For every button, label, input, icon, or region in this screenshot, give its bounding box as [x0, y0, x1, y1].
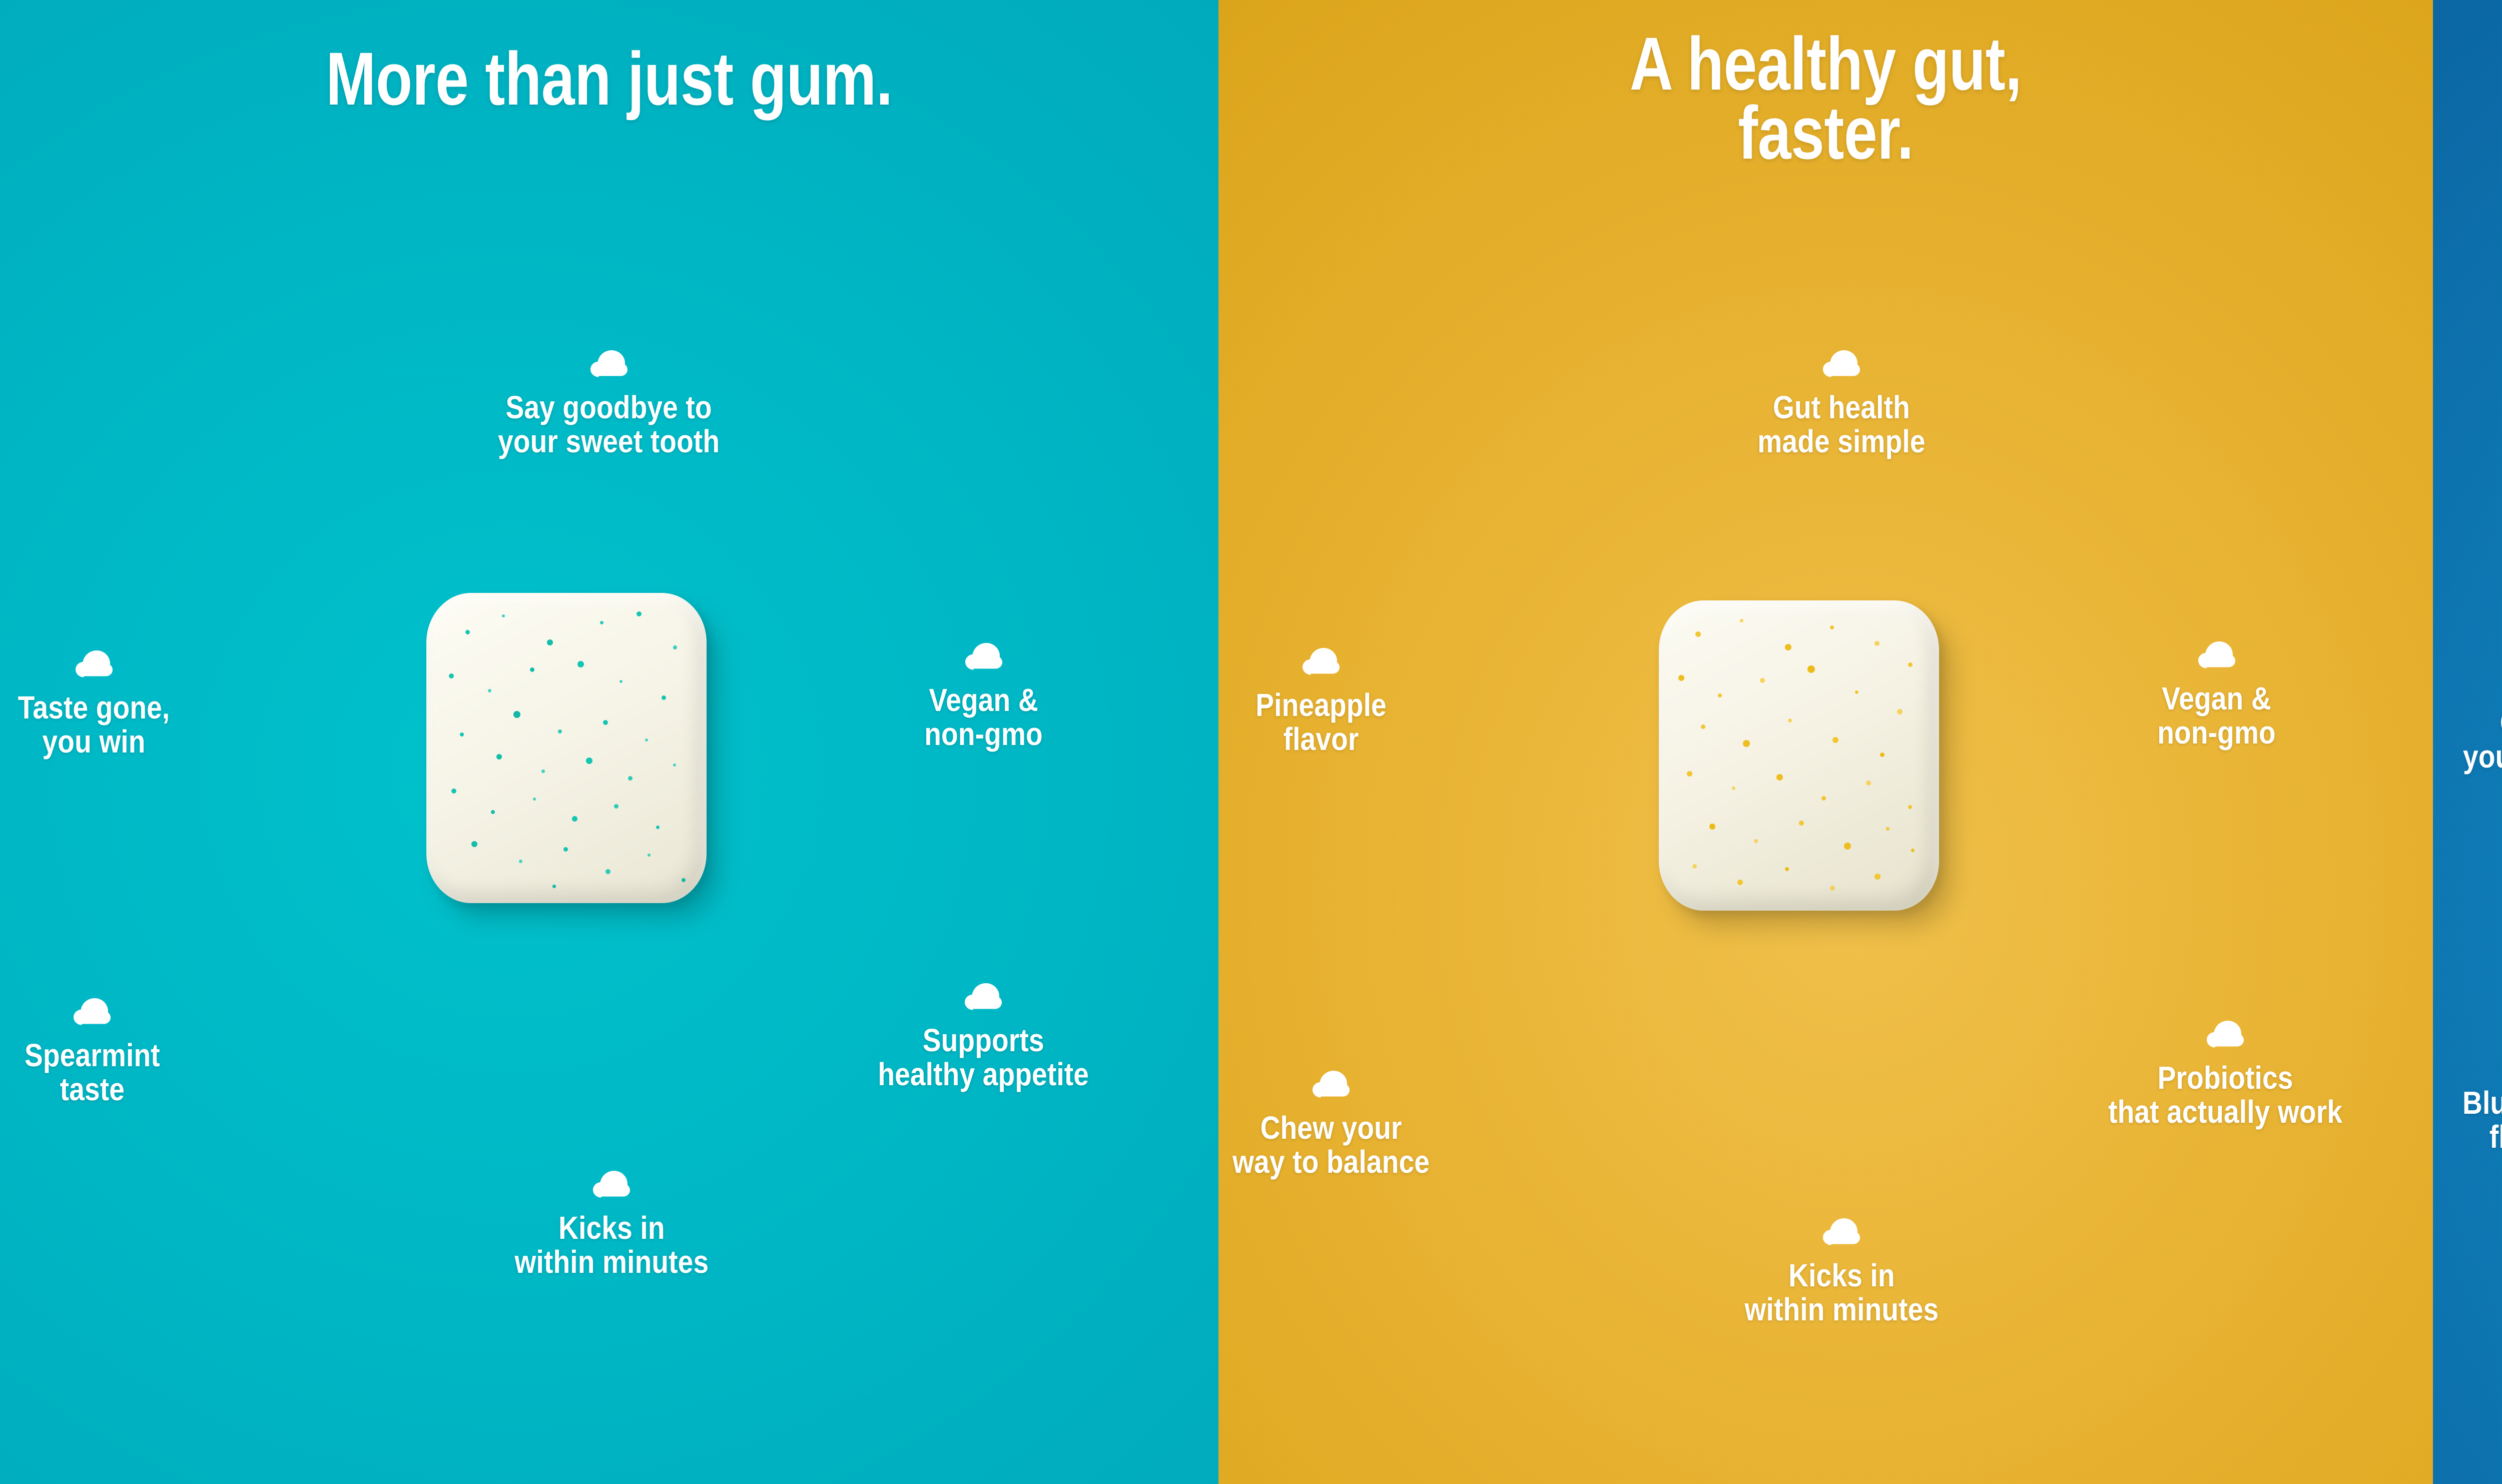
panel-spearmint: More than just gum.	[0, 0, 1218, 1484]
feature-label: Chew your way to balance	[1232, 1111, 1430, 1179]
panel-headline: More than just gum.	[122, 44, 1097, 113]
feature-left-lower: Blueberry flavor	[2433, 1046, 2502, 1154]
feature-left-upper: Clarity you can feel	[2433, 665, 2502, 774]
headline-line: faster.	[1340, 98, 2312, 167]
cloud-icon	[1823, 1218, 1860, 1245]
feature-label: Clarity you can feel	[2463, 705, 2502, 774]
panel-blueberry: Enhances your brain	[2433, 0, 2502, 1484]
cloud-icon	[1823, 350, 1860, 377]
cloud-icon	[1313, 1071, 1350, 1098]
cloud-icon	[590, 350, 628, 377]
feature-label: Kicks in within minutes	[1744, 1258, 1939, 1327]
headline-line: More than just gum.	[122, 44, 1097, 113]
cloud-icon	[593, 1171, 630, 1198]
feature-label: Vegan & non-gmo	[2158, 681, 2276, 750]
gum-body	[1659, 600, 1939, 911]
cloud-icon	[965, 983, 1002, 1010]
cloud-icon	[2207, 1021, 2244, 1048]
panel-headline: A healthy gut, faster.	[1340, 29, 2312, 167]
feature-bottom-center: Kicks in within minutes	[1711, 1218, 1972, 1327]
feature-left-lower: Spearmint taste	[0, 998, 222, 1107]
feature-right-upper: Vegan & non-gmo	[854, 643, 1114, 752]
feature-label: Say goodbye to your sweet tooth	[498, 390, 720, 459]
feature-label: Supports healthy appetite	[878, 1023, 1089, 1092]
feature-left-lower: Chew your way to balance	[1218, 1071, 1461, 1179]
feature-label: Gut health made simple	[1757, 390, 1925, 459]
feature-right-upper: Vegan & non-gmo	[2087, 641, 2347, 750]
feature-right-lower: Probiotics that actually work	[2065, 1021, 2385, 1129]
feature-left-upper: Pineapple flavor	[1218, 648, 1451, 757]
feature-right-lower: Supports healthy appetite	[823, 983, 1143, 1092]
panel-pineapple: A healthy gut, faster.	[1218, 0, 2433, 1484]
feature-top-center: Gut health made simple	[1711, 350, 1972, 459]
feature-label: Blueberry flavor	[2462, 1086, 2502, 1154]
gum-body	[426, 593, 707, 903]
triptych-board: More than just gum.	[0, 0, 2502, 1484]
gum-piece-spearmint	[426, 593, 707, 903]
headline-line: A healthy gut,	[1340, 29, 2312, 98]
cloud-icon	[965, 643, 1002, 670]
cloud-icon	[1303, 648, 1340, 675]
gum-piece-pineapple	[1659, 600, 1939, 911]
feature-label: Vegan & non-gmo	[925, 683, 1043, 752]
feature-left-upper: Taste gone, you win	[0, 650, 224, 759]
cloud-icon	[2198, 641, 2235, 668]
feature-label: Pineapple flavor	[1256, 688, 1387, 757]
feature-bottom-center: Kicks in within minutes	[481, 1171, 742, 1279]
feature-top-center: Say goodbye to your sweet tooth	[479, 350, 739, 459]
feature-label: Taste gone, you win	[18, 690, 170, 759]
feature-label: Spearmint taste	[25, 1038, 160, 1107]
cloud-icon	[74, 998, 111, 1025]
feature-label: Kicks in within minutes	[514, 1211, 709, 1279]
cloud-icon	[76, 650, 113, 677]
feature-label: Probiotics that actually work	[2108, 1061, 2342, 1129]
